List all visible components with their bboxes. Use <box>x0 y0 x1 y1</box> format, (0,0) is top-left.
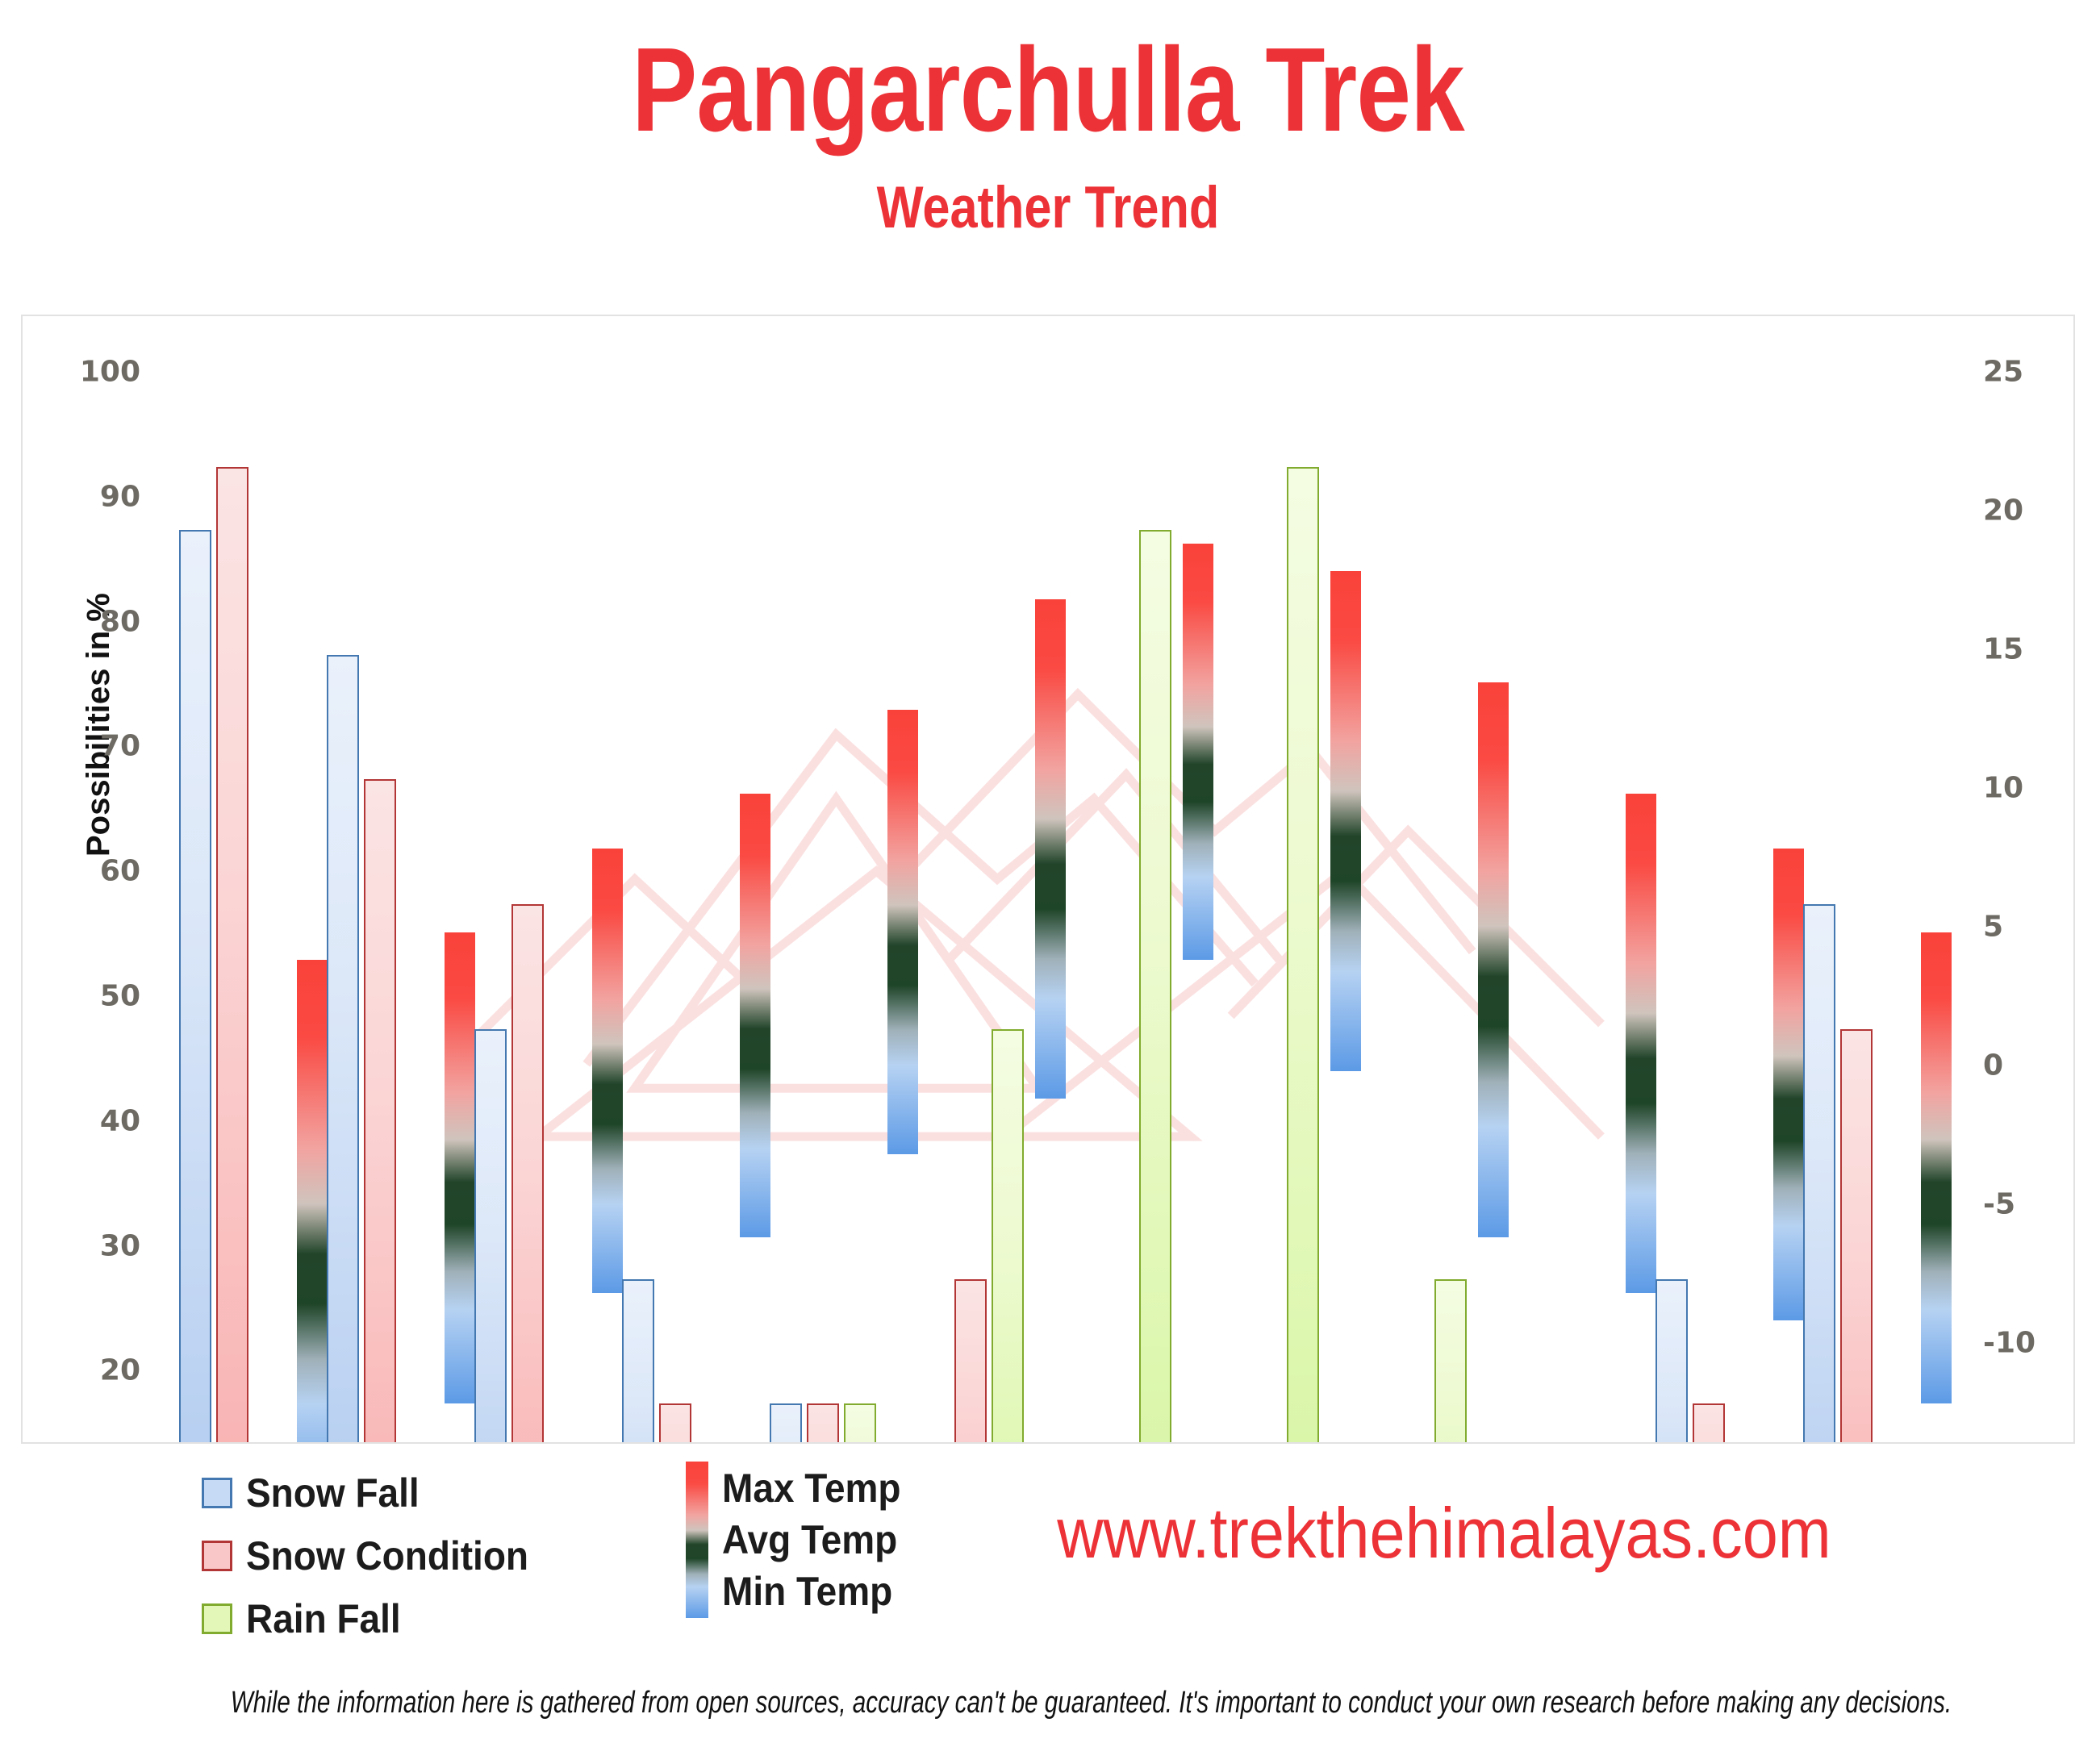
legend-item-label: Rain Fall <box>246 1595 401 1642</box>
month-group <box>1487 405 1635 1444</box>
month-group <box>306 405 453 1444</box>
legend-column-temperature: Max Temp Avg Temp Min Temp <box>686 1462 916 1618</box>
title-block: Pangarchulla Trek Weather Trend <box>0 0 2096 241</box>
rain-fall-bar <box>1434 1279 1467 1444</box>
y-tick-left: 30 <box>100 1229 140 1262</box>
y-tick-left: 90 <box>100 480 140 513</box>
y-tick-left: 100 <box>80 356 140 389</box>
snow-fall-bar <box>327 655 359 1444</box>
page-title: Pangarchulla Trek <box>189 31 1907 150</box>
legend-column-possibilities: Snow FallSnow ConditionRain Fall <box>202 1462 553 1650</box>
y-tick-left: 20 <box>100 1354 140 1387</box>
snow-condition-bar <box>1840 1029 1873 1444</box>
y-tick-left: 60 <box>100 855 140 888</box>
month-group <box>1044 405 1192 1444</box>
snow-condition-bar <box>364 779 396 1444</box>
legend-item[interactable]: Snow Condition <box>202 1524 553 1587</box>
snow-fall-bar <box>622 1279 654 1444</box>
y-tick-right: 15 <box>1983 633 2023 666</box>
snow-condition-bar <box>954 1279 987 1444</box>
y-tick-left: 70 <box>100 730 140 763</box>
rain-fall-bar <box>1287 467 1319 1444</box>
snow-fall-bar <box>179 530 211 1444</box>
disclaimer-text: While the information here is gathered f… <box>231 1686 1865 1720</box>
y-tick-right: 5 <box>1983 911 2003 944</box>
legend-temp-group: Max Temp Avg Temp Min Temp <box>686 1462 916 1618</box>
snow-fall-bar <box>1656 1279 1688 1444</box>
month-group <box>1782 405 1930 1444</box>
temperature-range-bar <box>1921 932 1952 1404</box>
y-tick-right: -5 <box>1983 1188 2015 1221</box>
y-tick-right: 10 <box>1983 772 2023 805</box>
y-tick-left: 50 <box>100 980 140 1013</box>
month-group <box>896 405 1044 1444</box>
snow-fall-bar <box>770 1403 802 1444</box>
plot-area: Possibilities in % Temperature in °C 010… <box>158 381 1930 1444</box>
y-tick-right: 25 <box>1983 356 2023 389</box>
month-group <box>749 405 896 1444</box>
y-tick-right: 0 <box>1983 1049 2003 1082</box>
snow-condition-bar <box>807 1403 839 1444</box>
month-group <box>453 405 601 1444</box>
snow-condition-bar <box>659 1403 691 1444</box>
snow-condition-bar <box>1693 1403 1725 1444</box>
snow-condition-bar <box>511 904 544 1444</box>
legend-item-label: Snow Fall <box>246 1470 420 1516</box>
snow-condition-bar <box>216 467 248 1444</box>
month-group <box>158 405 306 1444</box>
legend-item-label: Snow Condition <box>246 1533 528 1579</box>
square-swatch-icon <box>202 1603 232 1634</box>
legend-item[interactable]: Snow Fall <box>202 1462 553 1524</box>
month-group <box>1192 405 1339 1444</box>
legend-label-min-temp: Min Temp <box>722 1568 901 1615</box>
y-tick-right: 20 <box>1983 494 2023 528</box>
y-tick-right: -10 <box>1983 1327 2035 1360</box>
square-swatch-icon <box>202 1541 232 1571</box>
month-group <box>601 405 749 1444</box>
legend-label-avg-temp: Avg Temp <box>722 1516 901 1563</box>
rain-fall-bar <box>844 1403 876 1444</box>
legend-label-max-temp: Max Temp <box>722 1465 901 1512</box>
rain-fall-bar <box>1139 530 1171 1444</box>
y-tick-left: 40 <box>100 1104 140 1137</box>
page-subtitle: Weather Trend <box>168 174 1928 241</box>
snow-fall-bar <box>474 1029 507 1444</box>
chart-frame: Possibilities in % Temperature in °C 010… <box>21 315 2075 1444</box>
legend-item[interactable]: Rain Fall <box>202 1587 553 1650</box>
month-group <box>1339 405 1487 1444</box>
rain-fall-bar <box>992 1029 1024 1444</box>
month-group <box>1635 405 1782 1444</box>
y-tick-left: 80 <box>100 605 140 638</box>
square-swatch-icon <box>202 1478 232 1508</box>
temperature-gradient-swatch-icon <box>686 1462 708 1618</box>
snow-fall-bar <box>1803 904 1835 1444</box>
website-url[interactable]: www.trekthehimalayas.com <box>972 1492 1916 1574</box>
